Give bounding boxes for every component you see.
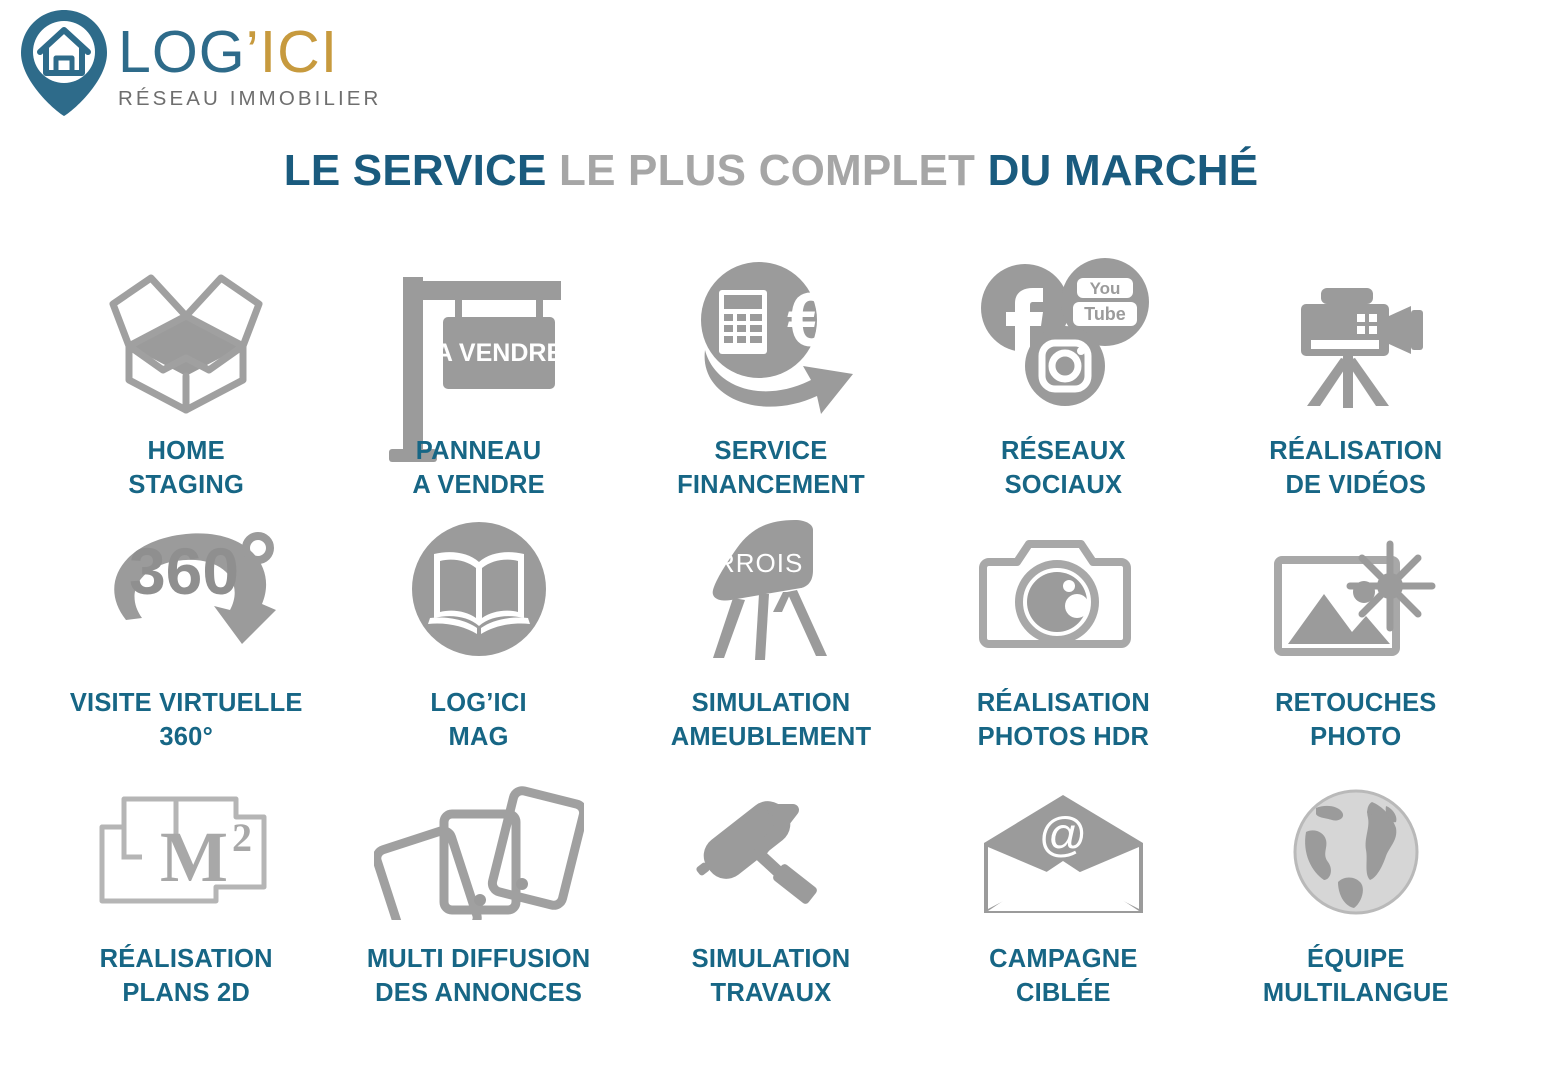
location-pin-house-icon: [18, 8, 110, 118]
service-label-line2: PHOTO: [1275, 720, 1436, 754]
paint-roller-icon: [681, 780, 861, 920]
service-label-line1: LOG’ICI: [430, 686, 526, 720]
service-label-line2: DE VIDÉOS: [1269, 468, 1442, 502]
svg-text:M: M: [160, 817, 228, 897]
instagram-icon: [1025, 326, 1105, 406]
service-label-line1: MULTI DIFFUSION: [367, 942, 591, 976]
video-camera-tripod-icon: [1261, 258, 1451, 418]
service-item-multi-diffusion[interactable]: MULTI DIFFUSION DES ANNONCES: [332, 780, 624, 1030]
svg-text:@: @: [1039, 809, 1088, 862]
envelope-at-icon: @: [976, 780, 1151, 920]
service-label: SIMULATION AMEUBLEMENT: [671, 686, 872, 755]
service-label-line1: RÉSEAUX: [1001, 434, 1126, 468]
service-item-retouches-photo[interactable]: RETOUCHES PHOTO: [1210, 514, 1502, 780]
brand-wordmark: LOG’ICI: [118, 24, 381, 80]
service-label-line2: MAG: [430, 720, 526, 754]
service-item-simulation-ameublement[interactable]: SIMULATION AMEUBLEMENT: [625, 514, 917, 780]
service-label: LOG’ICI MAG: [430, 686, 526, 755]
service-label-line1: PANNEAU: [412, 434, 544, 468]
service-item-panneau-a-vendre[interactable]: A VENDRE PANNEAU A VENDRE: [332, 258, 624, 514]
globe-icon: [1286, 780, 1426, 920]
service-label-line2: TRAVAUX: [692, 976, 851, 1010]
service-label-line1: SIMULATION: [671, 686, 872, 720]
service-label-line1: RÉALISATION: [100, 942, 273, 976]
brand-apostrophe: ’: [246, 19, 260, 85]
photo-camera-icon: [973, 514, 1153, 664]
service-label-line2: STAGING: [128, 468, 244, 502]
service-item-realisation-videos[interactable]: RÉALISATION DE VIDÉOS: [1210, 258, 1502, 514]
title-part-1: LE SERVICE: [284, 146, 559, 195]
service-label: RETOUCHES PHOTO: [1275, 686, 1436, 755]
brand-tagline: RÉSEAU IMMOBILIER: [118, 87, 381, 111]
service-label: CAMPAGNE CIBLÉE: [989, 942, 1137, 1011]
svg-text:2: 2: [232, 815, 252, 860]
brand-name-ici: ICI: [260, 19, 338, 85]
calculator-euro-arrow-icon: €: [671, 258, 871, 418]
svg-text:360: 360: [129, 534, 239, 608]
service-label-line1: HOME: [128, 434, 244, 468]
service-label: VISITE VIRTUELLE 360°: [70, 686, 303, 755]
chair-icon: [691, 514, 851, 664]
multi-devices-icon: [374, 780, 584, 920]
service-label: RÉALISATION PHOTOS HDR: [977, 686, 1150, 755]
service-item-service-financement[interactable]: € SERVICE FINANCEMENT: [625, 258, 917, 514]
service-item-visite-virtuelle-360[interactable]: 360 VISITE VIRTUELLE 360°: [40, 514, 332, 780]
service-label: HOME STAGING: [128, 434, 244, 503]
for-sale-sign-icon: A VENDRE: [381, 258, 576, 418]
service-item-equipe-multilangue[interactable]: ÉQUIPE MULTILANGUE: [1210, 780, 1502, 1030]
service-item-realisation-plans-2d[interactable]: M 2 RÉALISATION PLANS 2D: [40, 780, 332, 1030]
floor-plan-m2-icon: M 2: [86, 780, 286, 920]
service-label-line2: FINANCEMENT: [677, 468, 865, 502]
page-title: LE SERVICE LE PLUS COMPLET DU MARCHÉ: [0, 146, 1542, 196]
service-item-simulation-travaux[interactable]: SIMULATION TRAVAUX: [625, 780, 917, 1030]
service-item-home-staging[interactable]: HOME STAGING: [40, 258, 332, 514]
brand-name-log: LOG: [118, 19, 246, 85]
service-label-line2: A VENDRE: [412, 468, 544, 502]
open-book-circle-icon: [404, 514, 554, 664]
service-label-line2: MULTILANGUE: [1263, 976, 1449, 1010]
services-grid: HOME STAGING A VENDRE PANNEAU A VENDRE: [40, 258, 1502, 1030]
service-label-line1: RÉALISATION: [977, 686, 1150, 720]
service-label: MULTI DIFFUSION DES ANNONCES: [367, 942, 591, 1011]
360-degrees-arrow-icon: 360: [86, 514, 286, 664]
service-label-line1: SERVICE: [677, 434, 865, 468]
social-networks-icon: You Tube: [963, 258, 1163, 418]
service-label-line1: RÉALISATION: [1269, 434, 1442, 468]
service-label: PANNEAU A VENDRE: [412, 434, 544, 503]
title-part-2: LE PLUS COMPLET: [559, 146, 988, 195]
brand-logo: LOG’ICI RÉSEAU IMMOBILIER: [18, 8, 381, 118]
svg-text:Tube: Tube: [1085, 304, 1127, 324]
service-label-line2: PHOTOS HDR: [977, 720, 1150, 754]
service-item-reseaux-sociaux[interactable]: You Tube RÉSEAUX SOCIAUX: [917, 258, 1209, 514]
svg-text:You: You: [1090, 279, 1121, 298]
service-label: ÉQUIPE MULTILANGUE: [1263, 942, 1449, 1011]
service-label-line2: 360°: [70, 720, 303, 754]
service-label-line1: SIMULATION: [692, 942, 851, 976]
infographic-page: LOG’ICI RÉSEAU IMMOBILIER LE SERVICE LE …: [0, 0, 1542, 1080]
service-label: SIMULATION TRAVAUX: [692, 942, 851, 1011]
photo-retouch-sparkle-icon: [1266, 514, 1446, 664]
service-label-line1: ÉQUIPE: [1263, 942, 1449, 976]
service-label-line2: AMEUBLEMENT: [671, 720, 872, 754]
title-part-3: DU MARCHÉ: [988, 146, 1259, 195]
service-label-line2: DES ANNONCES: [367, 976, 591, 1010]
service-label: RÉALISATION DE VIDÉOS: [1269, 434, 1442, 503]
service-item-campagne-ciblee[interactable]: @ CAMPAGNE CIBLÉE: [917, 780, 1209, 1030]
service-label-line2: SOCIAUX: [1001, 468, 1126, 502]
service-label: RÉSEAUX SOCIAUX: [1001, 434, 1126, 503]
service-label-line1: CAMPAGNE: [989, 942, 1137, 976]
service-label-line2: PLANS 2D: [100, 976, 273, 1010]
sign-text: A VENDRE: [435, 339, 563, 367]
service-item-realisation-photos-hdr[interactable]: RÉALISATION PHOTOS HDR: [917, 514, 1209, 780]
service-label: RÉALISATION PLANS 2D: [100, 942, 273, 1011]
service-item-logici-mag[interactable]: LOG’ICI MAG: [332, 514, 624, 780]
service-label-line1: RETOUCHES: [1275, 686, 1436, 720]
service-label-line1: VISITE VIRTUELLE: [70, 686, 303, 720]
service-label: SERVICE FINANCEMENT: [677, 434, 865, 503]
svg-text:€: €: [787, 278, 829, 363]
open-box-icon: [91, 258, 281, 418]
service-label-line2: CIBLÉE: [989, 976, 1137, 1010]
